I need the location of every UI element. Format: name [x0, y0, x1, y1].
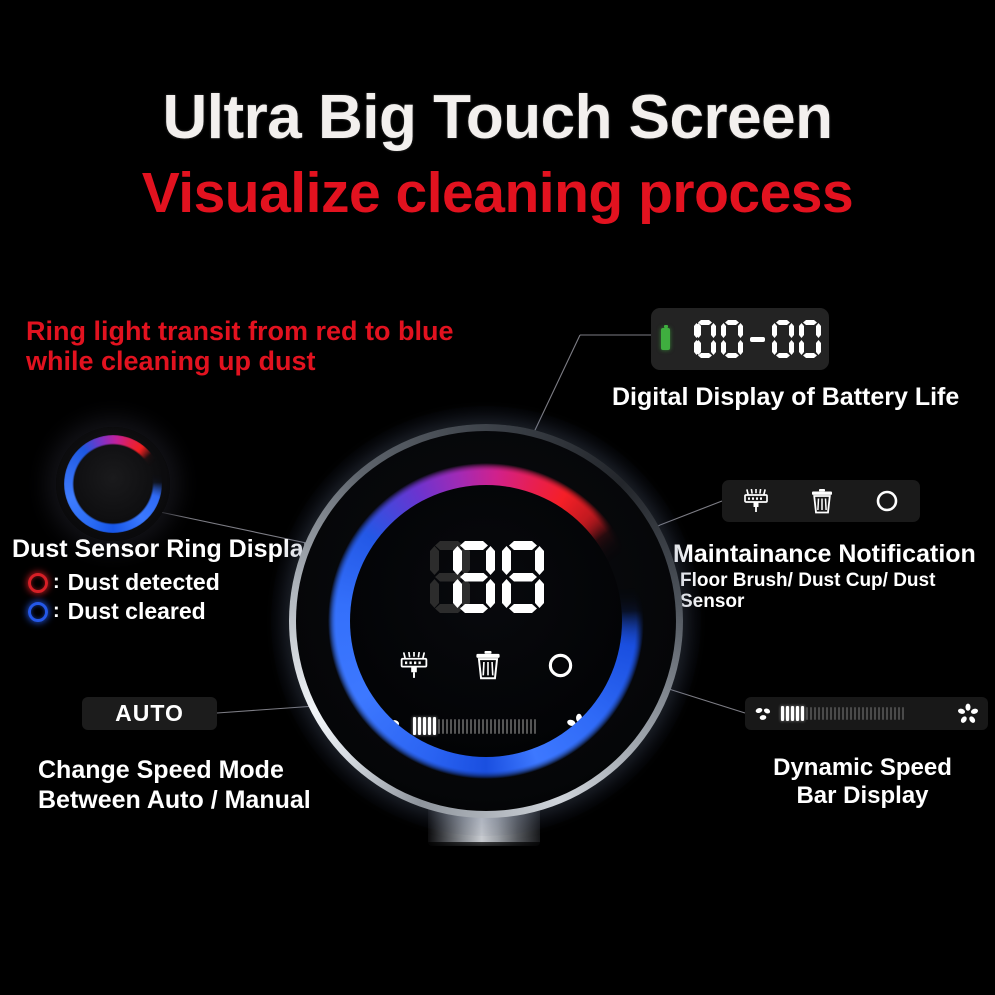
dust-sensor-icon: [875, 489, 899, 513]
legend-label: Dust detected: [68, 569, 220, 596]
dust-ring-arc: [64, 435, 162, 533]
seven-segment-digit-1: [679, 320, 689, 358]
dust-sensor-ring-display: [56, 427, 170, 541]
speed-tick: [454, 719, 456, 734]
speed-tick: [470, 719, 472, 734]
ring-transit-note: Ring light transit from red to blue whil…: [26, 316, 546, 376]
speed-tick: [834, 707, 836, 720]
device-speed-ticks: [413, 717, 557, 735]
device-speed-bar[interactable]: [380, 713, 592, 739]
speed-mode-line2: Between Auto / Manual: [38, 786, 311, 814]
fan-small-icon: [380, 716, 404, 737]
ring-transit-line1: Ring light transit from red to blue: [26, 316, 454, 346]
speed-tick: [450, 719, 452, 734]
speed-tick: [514, 719, 516, 734]
speed-tick: [494, 719, 496, 734]
speed-tick: [506, 719, 508, 734]
maintenance-label: Maintainance Notification: [673, 540, 976, 568]
speed-tick: [810, 707, 812, 720]
speed-bar-line1: Dynamic Speed: [773, 754, 952, 781]
dust-sensor-icon[interactable]: [547, 652, 574, 679]
speed-tick: [442, 719, 444, 734]
speed-tick: [854, 707, 856, 720]
speed-bar-ticks: [781, 706, 950, 721]
speed-tick: [898, 707, 900, 720]
speed-tick: [433, 717, 436, 735]
fan-small-icon: [754, 705, 774, 723]
speed-tick: [466, 719, 468, 734]
seven-segment-digit-1: [428, 541, 446, 613]
legend-colon: :: [53, 600, 60, 623]
speed-tick: [486, 719, 488, 734]
speed-tick: [866, 707, 868, 720]
dust-cup-icon: [811, 489, 833, 514]
speed-tick: [490, 719, 492, 734]
speed-tick: [502, 719, 504, 734]
speed-tick: [801, 706, 804, 721]
auto-chip-label: AUTO: [115, 700, 184, 727]
seven-segment-digit-8: [502, 541, 544, 613]
speed-tick: [418, 717, 421, 735]
speed-tick: [890, 707, 892, 720]
battery-readout-chip: [651, 308, 829, 370]
speed-tick: [781, 706, 784, 721]
speed-tick: [438, 719, 440, 734]
maintenance-notification-chip: [722, 480, 920, 522]
seven-segment-digit-0: [772, 320, 794, 358]
speed-tick: [882, 707, 884, 720]
speed-mode-line1: Change Speed Mode: [38, 756, 284, 784]
device-screen[interactable]: AUTO: [350, 485, 622, 757]
speed-tick: [862, 707, 864, 720]
fan-large-icon: [957, 703, 979, 725]
speed-bar-line2: Bar Display: [796, 782, 928, 809]
speed-tick: [458, 719, 460, 734]
speed-tick: [822, 707, 824, 720]
device-maintenance-icons: [350, 651, 622, 680]
speed-tick: [796, 706, 799, 721]
dust-sensor-legend: : Dust detected : Dust cleared: [28, 568, 220, 626]
speed-mode-label: Change Speed Mode Between Auto / Manual: [38, 755, 311, 815]
speed-tick: [826, 707, 828, 720]
page-title: Ultra Big Touch Screen: [0, 82, 995, 153]
speed-bar-label: Dynamic Speed Bar Display: [770, 754, 955, 811]
legend-item: : Dust detected: [28, 568, 220, 597]
dust-cleared-ring-icon: [28, 602, 48, 622]
page-subtitle: Visualize cleaning process: [0, 160, 995, 226]
seven-segment-digit-8: [453, 541, 495, 613]
legend-item: : Dust cleared: [28, 597, 220, 626]
device-seven-segment-digits: [350, 541, 622, 613]
dust-detected-ring-icon: [28, 573, 48, 593]
battery-seven-segment-digits: [679, 320, 821, 358]
fan-large-icon: [566, 713, 592, 739]
speed-tick: [902, 707, 904, 720]
speed-tick: [786, 706, 789, 721]
speed-tick: [498, 719, 500, 734]
speed-tick: [870, 707, 872, 720]
speed-tick: [428, 717, 431, 735]
speed-tick: [518, 719, 520, 734]
speed-tick: [878, 707, 880, 720]
speed-tick: [526, 719, 528, 734]
speed-tick: [478, 719, 480, 734]
speed-tick: [446, 719, 448, 734]
ring-transit-line2: while cleaning up dust: [26, 346, 546, 376]
legend-label: Dust cleared: [68, 598, 206, 625]
battery-icon: [661, 328, 670, 350]
speed-tick: [894, 707, 896, 720]
maintenance-sublabel: Floor Brush/ Dust Cup/ Dust Sensor: [680, 570, 995, 613]
seven-segment-digit-0: [721, 320, 743, 358]
vacuum-touch-screen-device: AUTO: [289, 424, 683, 818]
speed-tick: [874, 707, 876, 720]
speed-tick: [846, 707, 848, 720]
speed-tick: [858, 707, 860, 720]
speed-tick: [474, 719, 476, 734]
speed-tick: [791, 706, 794, 721]
speed-tick: [814, 707, 816, 720]
floor-brush-icon[interactable]: [399, 652, 429, 679]
speed-tick: [830, 707, 832, 720]
floor-brush-icon: [743, 489, 769, 513]
speed-tick: [534, 719, 536, 734]
speed-tick: [850, 707, 852, 720]
seven-segment-digit-0: [799, 320, 821, 358]
speed-tick: [482, 719, 484, 734]
speed-tick: [530, 719, 532, 734]
speed-tick: [842, 707, 844, 720]
seven-segment-digit-0: [694, 320, 716, 358]
speed-tick: [522, 719, 524, 734]
speed-tick: [510, 719, 512, 734]
dust-cup-icon[interactable]: [475, 651, 501, 680]
speed-tick: [818, 707, 820, 720]
speed-tick: [838, 707, 840, 720]
speed-tick: [423, 717, 426, 735]
dynamic-speed-bar-chip: [745, 697, 988, 730]
speed-tick: [806, 707, 808, 720]
auto-mode-chip: AUTO: [82, 697, 217, 730]
infographic-page: Ultra Big Touch Screen Visualize cleanin…: [0, 0, 995, 995]
dust-sensor-label: Dust Sensor Ring Display: [12, 535, 318, 563]
speed-tick: [413, 717, 416, 735]
speed-tick: [462, 719, 464, 734]
seven-segment-dash: [750, 337, 765, 342]
speed-tick: [886, 707, 888, 720]
legend-colon: :: [53, 571, 60, 594]
battery-label: Digital Display of Battery Life: [612, 383, 959, 411]
